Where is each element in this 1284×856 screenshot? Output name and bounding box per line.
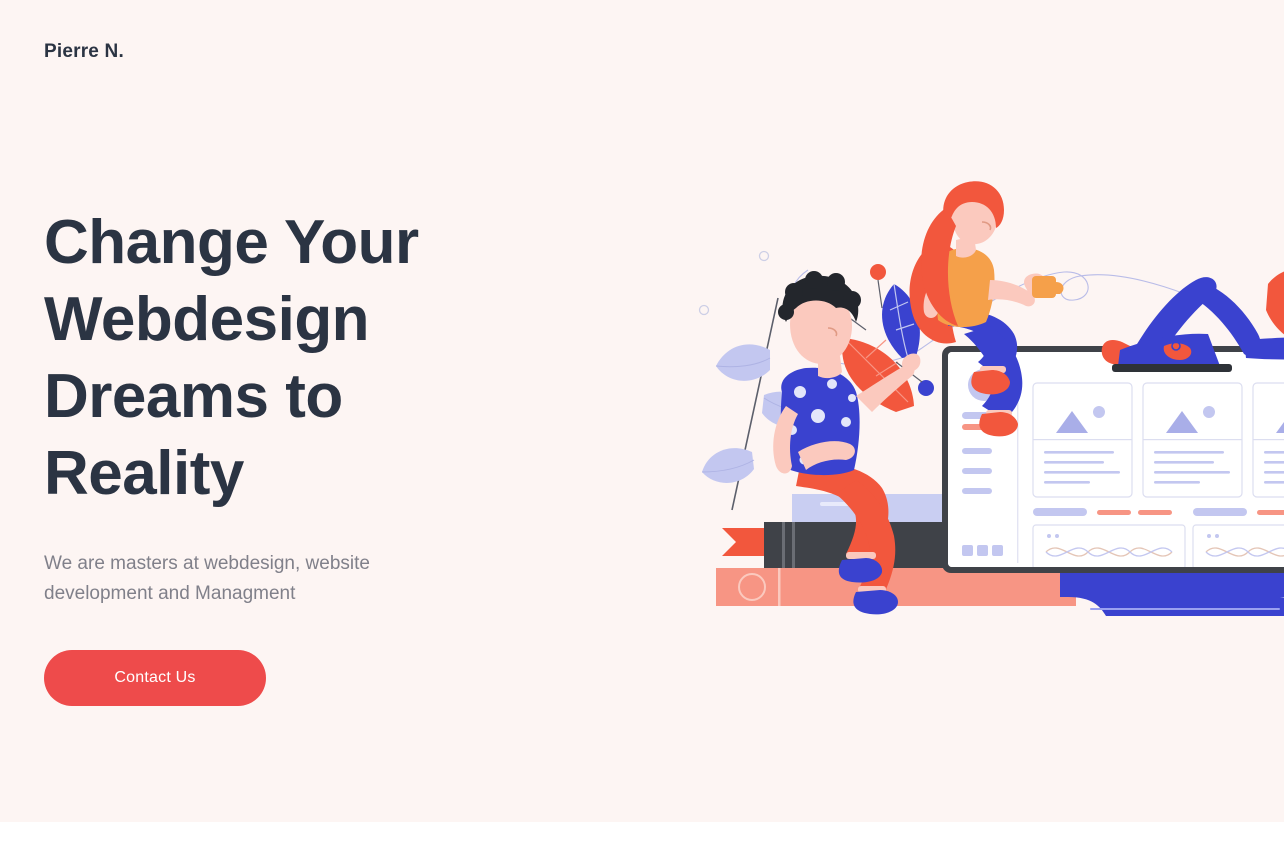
contact-us-button[interactable]: Contact Us <box>44 650 266 706</box>
hero-copy: Change Your Webdesign Dreams to Reality … <box>44 204 514 706</box>
decorative-circles <box>700 252 769 555</box>
reclining-person <box>1102 186 1284 372</box>
page-title: Change Your Webdesign Dreams to Reality <box>44 204 444 512</box>
site-logo[interactable]: Pierre N. <box>44 42 124 61</box>
site-header: Pierre N. <box>44 42 124 61</box>
next-section <box>0 822 1284 856</box>
hero-section: Pierre N. Change Your Webdesign Dreams t… <box>0 0 1284 822</box>
hero-subtitle: We are masters at webdesign, website dev… <box>44 549 444 609</box>
hero-illustration <box>660 180 1284 660</box>
landing-page: Pierre N. Change Your Webdesign Dreams t… <box>0 0 1284 856</box>
